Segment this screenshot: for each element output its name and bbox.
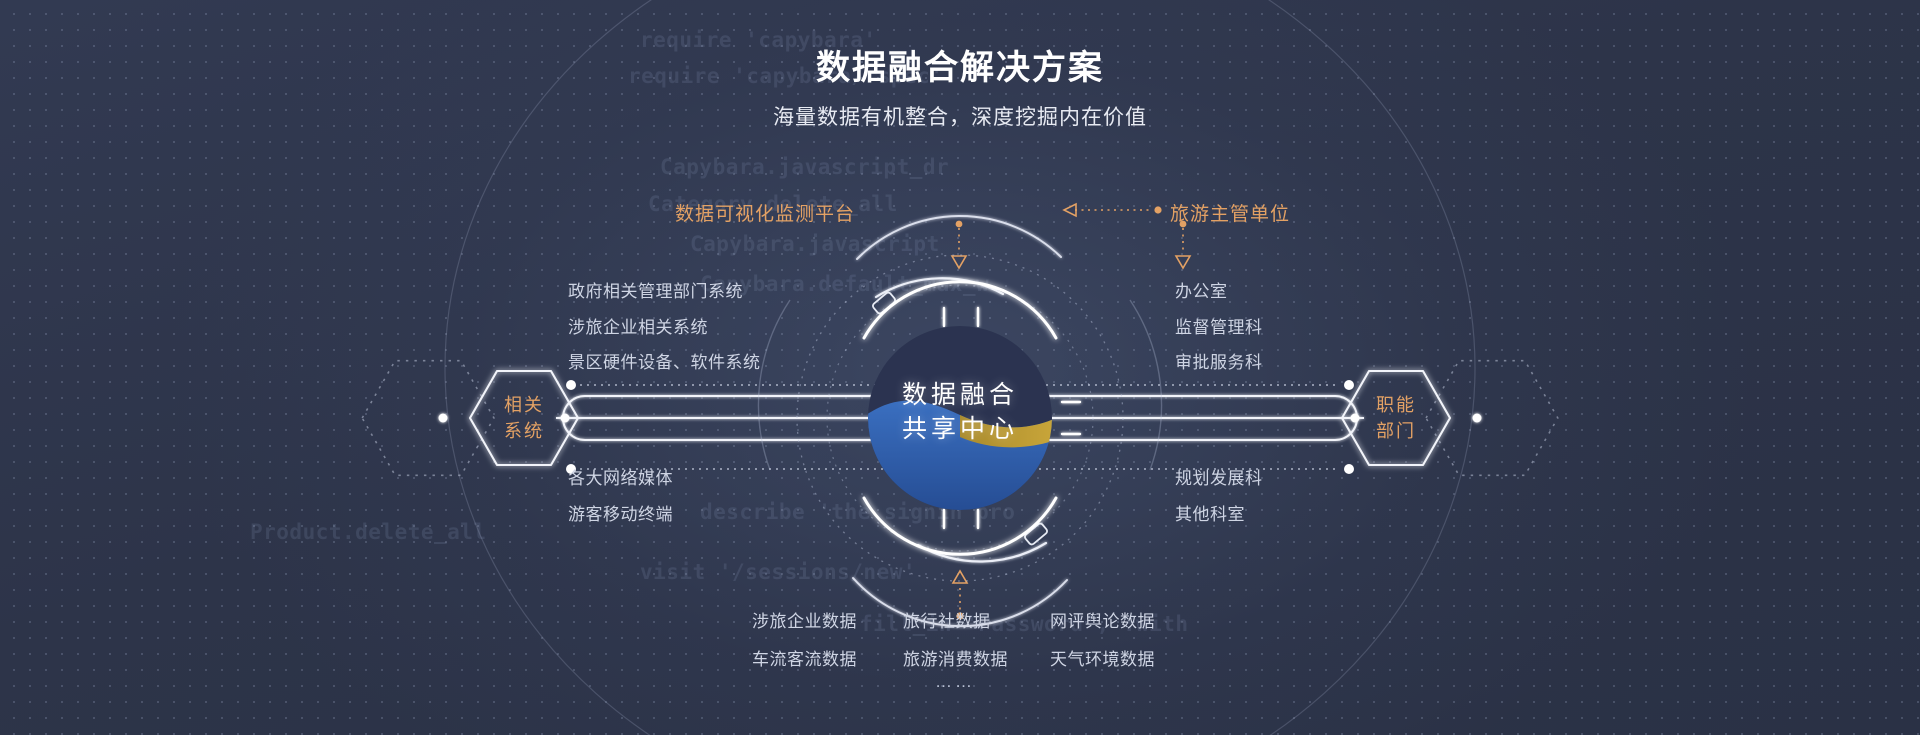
center-core-label: 数据融合 共享中心 xyxy=(850,378,1070,446)
left-hexagon-label-line2: 系统 xyxy=(470,418,578,444)
bottom-item-r1c2[interactable]: 天气环境数据 xyxy=(1050,645,1155,670)
code-line: Product.delete_all xyxy=(250,520,487,544)
orange-vertical-feeds xyxy=(952,221,1190,268)
right-lower-item-0[interactable]: 规划发展科 xyxy=(1175,464,1263,489)
bottom-item-r1c1[interactable]: 旅游消费数据 xyxy=(903,645,1008,670)
left-lower-item-0[interactable]: 各大网络媒体 xyxy=(568,464,673,489)
code-line: Capybara.default_max_w xyxy=(700,272,989,296)
bottom-item-r0c0[interactable]: 涉旅企业数据 xyxy=(752,607,857,632)
right-lower-item-1[interactable]: 其他科室 xyxy=(1175,500,1245,525)
left-triangle-icon xyxy=(1064,204,1076,216)
center-core-line2: 共享中心 xyxy=(850,412,1070,446)
bottom-ellipsis: …… xyxy=(935,672,975,692)
bottom-item-r1c0[interactable]: 车流客流数据 xyxy=(752,645,857,670)
code-line: Capybara.javascript_dr xyxy=(660,155,949,179)
bottom-item-r0c1[interactable]: 旅行社数据 xyxy=(903,607,991,632)
right-hexagon-label-line2: 部门 xyxy=(1342,418,1450,444)
page-subtitle: 海量数据有机整合，深度挖掘内在价值 xyxy=(0,101,1920,131)
down-triangle-icon xyxy=(1176,256,1190,268)
left-hexagon-label[interactable]: 相关 系统 xyxy=(470,392,578,444)
right-upper-item-2[interactable]: 审批服务科 xyxy=(1175,348,1263,373)
connector-dot xyxy=(1154,206,1161,213)
code-line: describe 'the signin pro xyxy=(700,500,1015,524)
center-core-line1: 数据融合 xyxy=(850,378,1070,412)
left-hexagon-label-line1: 相关 xyxy=(470,392,578,418)
up-triangle-icon xyxy=(953,571,967,583)
bottom-item-r0c2[interactable]: 网评舆论数据 xyxy=(1050,607,1155,632)
right-hexagon-label[interactable]: 职能 部门 xyxy=(1342,392,1450,444)
page-title: 数据融合解决方案 xyxy=(0,40,1920,89)
down-triangle-icon xyxy=(952,256,966,268)
top-orange-connector xyxy=(1064,204,1162,216)
code-line: Capybara.javascript xyxy=(690,232,940,256)
right-upper-item-1[interactable]: 监督管理科 xyxy=(1175,313,1263,338)
node-data-visualization-platform[interactable]: 数据可视化监测平台 xyxy=(675,199,855,226)
node-tourism-authority[interactable]: 旅游主管单位 xyxy=(1170,199,1290,226)
infographic-canvas: require 'capybara' require 'capybara/rsp… xyxy=(0,0,1920,735)
left-upper-item-2[interactable]: 景区硬件设备、软件系统 xyxy=(568,348,761,373)
left-lower-item-1[interactable]: 游客移动终端 xyxy=(568,500,673,525)
right-upper-item-0[interactable]: 办公室 xyxy=(1175,277,1228,302)
left-upper-item-1[interactable]: 涉旅企业相关系统 xyxy=(568,313,708,338)
left-upper-item-0[interactable]: 政府相关管理部门系统 xyxy=(568,277,743,302)
right-hexagon-label-line1: 职能 xyxy=(1342,392,1450,418)
code-line: visit '/sessions/new' xyxy=(640,560,916,584)
